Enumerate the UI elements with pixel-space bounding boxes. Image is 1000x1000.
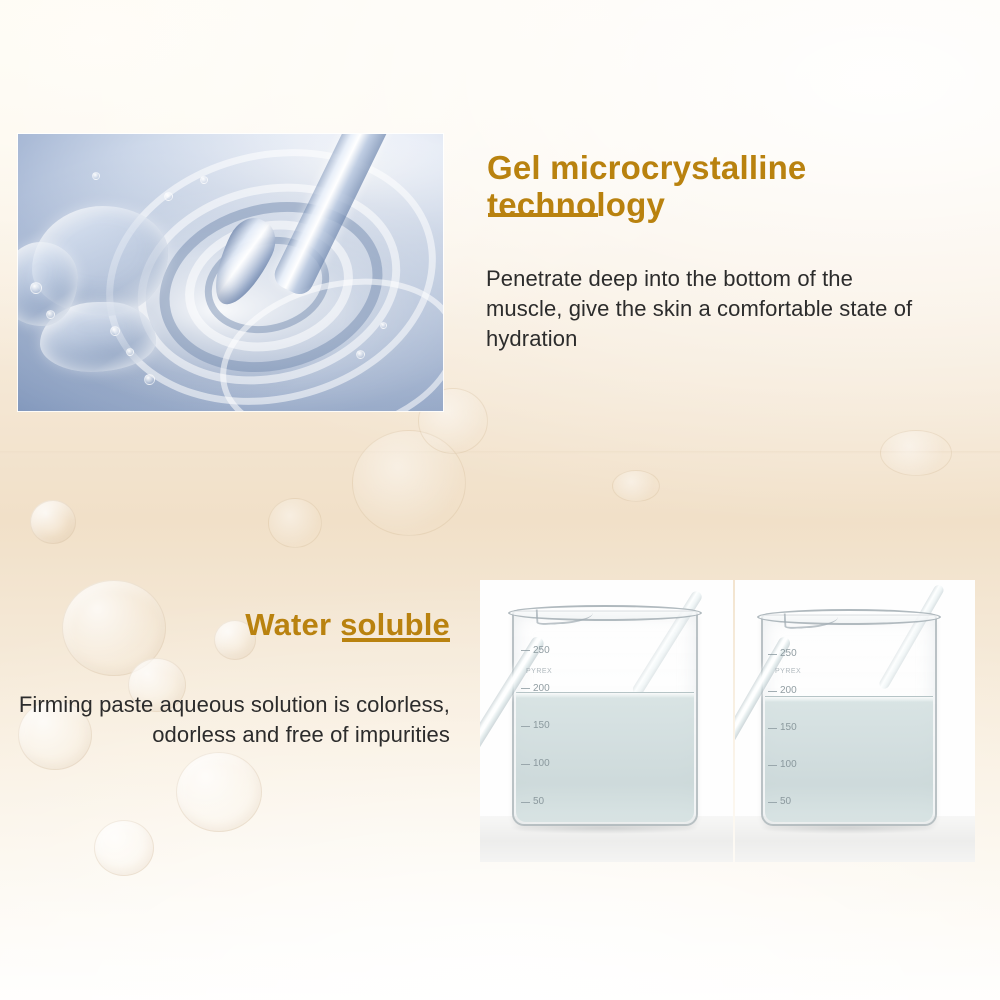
gel-bubble bbox=[126, 348, 134, 356]
beaker-left: 250 200 150 100 50 PYREX bbox=[512, 610, 698, 826]
water-section-underline bbox=[342, 638, 450, 642]
graduation-tick bbox=[521, 688, 530, 689]
gel-section-body: Penetrate deep into the bottom of the mu… bbox=[486, 264, 926, 354]
beaker-spout bbox=[535, 607, 592, 626]
beaker-brand-mark: PYREX bbox=[526, 668, 552, 675]
water-section-body: Firming paste aqueous solution is colorl… bbox=[10, 690, 450, 750]
background-water-droplet bbox=[30, 500, 76, 544]
gel-bubble bbox=[200, 176, 208, 184]
gel-bubble bbox=[46, 310, 55, 319]
background-bubble-ring bbox=[880, 430, 952, 476]
gel-bubble bbox=[380, 322, 387, 329]
beaker-brand-mark: PYREX bbox=[775, 668, 801, 675]
beaker-liquid-surface bbox=[765, 696, 933, 702]
background-seam-divider bbox=[0, 451, 1000, 454]
background-water-droplet bbox=[176, 752, 262, 832]
gel-bubble bbox=[110, 326, 120, 336]
beaker-right: 250 200 150 100 50 PYREX bbox=[761, 614, 937, 826]
gel-bubble bbox=[164, 192, 173, 201]
graduation-mark: 200 bbox=[768, 686, 830, 696]
beaker-photo-left: 250 200 150 100 50 PYREX bbox=[480, 580, 733, 862]
background-bubble-ring bbox=[612, 470, 660, 502]
beaker-photo-right: 250 200 150 100 50 PYREX bbox=[735, 580, 975, 862]
gel-bubble bbox=[144, 374, 155, 385]
beaker-liquid bbox=[516, 692, 694, 822]
gel-section-underline bbox=[488, 213, 598, 217]
beaker-liquid bbox=[765, 696, 933, 822]
gel-bubble bbox=[92, 172, 100, 180]
graduation-tick bbox=[768, 691, 777, 692]
beaker-spout bbox=[783, 611, 837, 630]
graduation-label: 200 bbox=[780, 686, 797, 696]
product-feature-infographic: Gel microcrystalline technology Penetrat… bbox=[0, 0, 1000, 1000]
background-bubble-ring bbox=[268, 498, 322, 548]
background-water-droplet bbox=[94, 820, 154, 876]
beaker-liquid-surface bbox=[516, 692, 694, 698]
gel-bubble bbox=[356, 350, 365, 359]
gel-bubble bbox=[30, 282, 42, 294]
gel-photo bbox=[18, 134, 443, 411]
